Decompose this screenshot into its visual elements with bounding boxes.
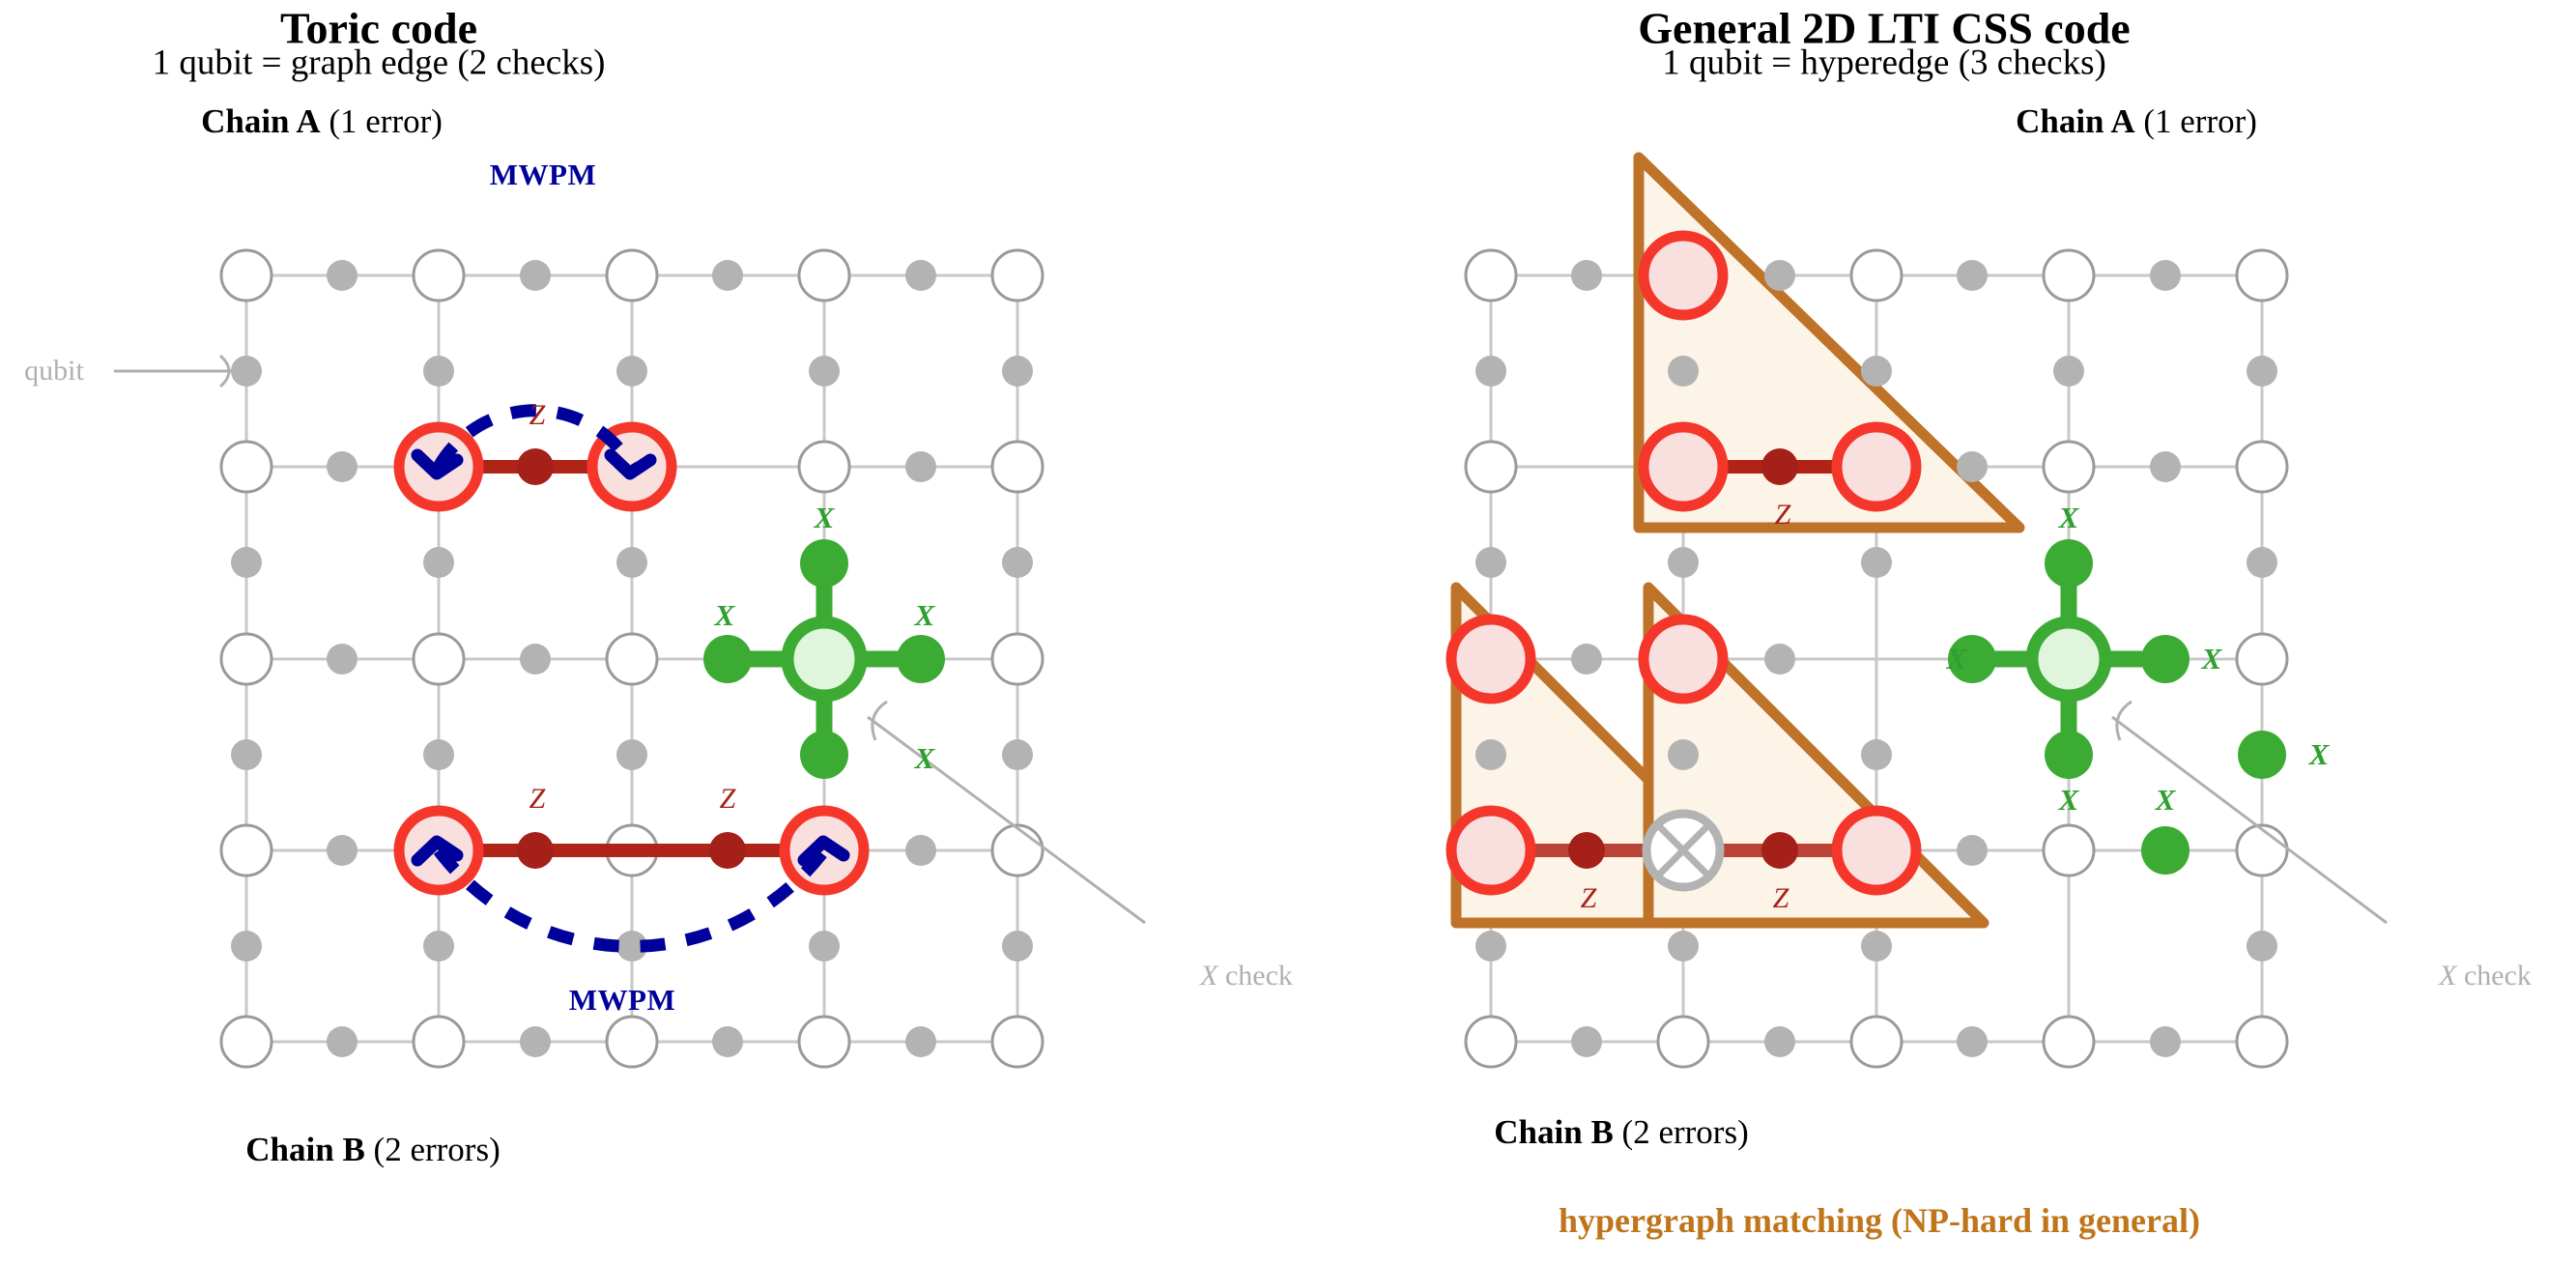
x-check-extra-qubit xyxy=(2141,826,2190,875)
xcheck-annotation-label-lti: X check xyxy=(2439,960,2532,992)
x-label-lti-right: X xyxy=(2202,642,2222,676)
syndrome-vertex xyxy=(1451,811,1531,890)
lti-crossed-vertex xyxy=(1646,814,1720,887)
syndrome-vertex xyxy=(1451,619,1531,699)
z-label-chain-b-lti-1: Z xyxy=(1581,882,1597,915)
x-check-center xyxy=(2032,622,2105,696)
syndrome-vertex xyxy=(1644,236,1723,315)
x-label-lti-extra-bottom: X xyxy=(2156,783,2176,818)
lti-hyperedges xyxy=(1456,158,2019,923)
x-label-lti-extra-right: X xyxy=(2309,737,2330,772)
x-check-extra-qubit xyxy=(2238,731,2286,779)
xcheck-annotation-x: X xyxy=(2439,960,2456,991)
lti-lattice-svg xyxy=(0,0,2576,1264)
x-label-lti-left: X xyxy=(1947,642,1967,676)
xcheck-annotation-rest: check xyxy=(2456,960,2531,991)
z-label-chain-b-lti-2: Z xyxy=(1773,882,1789,915)
hypergraph-matching-footer: hypergraph matching (NP-hard in general) xyxy=(1559,1200,2200,1241)
x-label-lti-top: X xyxy=(2059,501,2079,535)
syndrome-vertex xyxy=(1837,811,1916,890)
syndrome-vertex xyxy=(1644,427,1723,506)
syndrome-vertex xyxy=(1644,619,1723,699)
syndrome-vertex xyxy=(1837,427,1916,506)
lti-x-check xyxy=(1948,539,2286,875)
x-label-lti-bottom: X xyxy=(2059,783,2079,818)
z-label-chain-a-lti: Z xyxy=(1775,499,1791,531)
